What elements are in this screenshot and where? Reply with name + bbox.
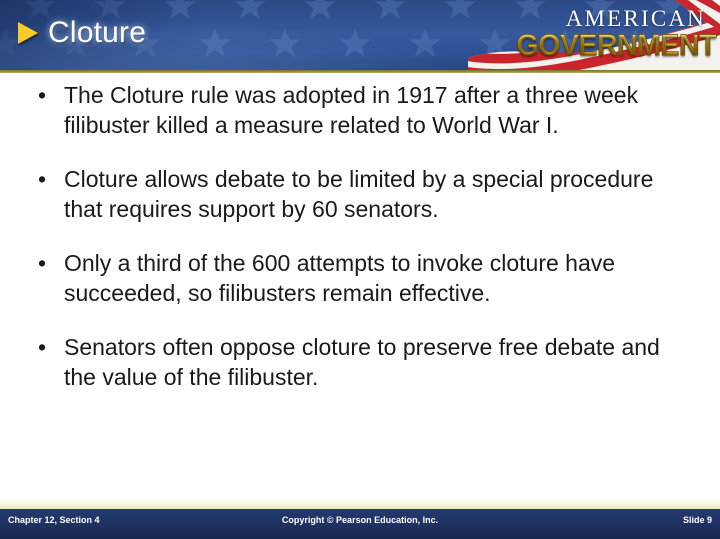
page-title: Cloture	[48, 16, 146, 50]
bullet-marker-icon: •	[38, 332, 64, 362]
bullet-list: • The Cloture rule was adopted in 1917 a…	[0, 80, 720, 392]
bullet-text: Senators often oppose cloture to preserv…	[64, 332, 664, 392]
slide-canvas: Cloture AMERICAN GOVERNMENT • The Clotur…	[0, 0, 720, 539]
bullet-text: Cloture allows debate to be limited by a…	[64, 164, 664, 224]
slide-title-group: Cloture	[18, 16, 146, 50]
footer-cream-rule	[0, 497, 720, 509]
list-item: • The Cloture rule was adopted in 1917 a…	[0, 80, 720, 140]
bullet-marker-icon: •	[38, 164, 64, 194]
list-item: • Senators often oppose cloture to prese…	[0, 332, 720, 392]
bullet-text: The Cloture rule was adopted in 1917 aft…	[64, 80, 664, 140]
list-item: • Only a third of the 600 attempts to in…	[0, 248, 720, 308]
bullet-marker-icon: •	[38, 248, 64, 278]
logo-line-government: GOVERNMENT	[516, 29, 716, 63]
slide-header-banner: Cloture AMERICAN GOVERNMENT	[0, 0, 720, 73]
bullet-marker-icon: •	[38, 80, 64, 110]
bullet-text: Only a third of the 600 attempts to invo…	[64, 248, 664, 308]
footer-copyright: Copyright © Pearson Education, Inc.	[0, 515, 720, 525]
triangle-right-icon	[18, 22, 38, 44]
list-item: • Cloture allows debate to be limited by…	[0, 164, 720, 224]
american-government-logo: AMERICAN GOVERNMENT	[460, 0, 720, 73]
footer-slide-number: Slide 9	[683, 515, 712, 525]
slide-footer: Chapter 12, Section 4 Copyright © Pearso…	[0, 509, 720, 539]
slide-body: • The Cloture rule was adopted in 1917 a…	[0, 80, 720, 488]
